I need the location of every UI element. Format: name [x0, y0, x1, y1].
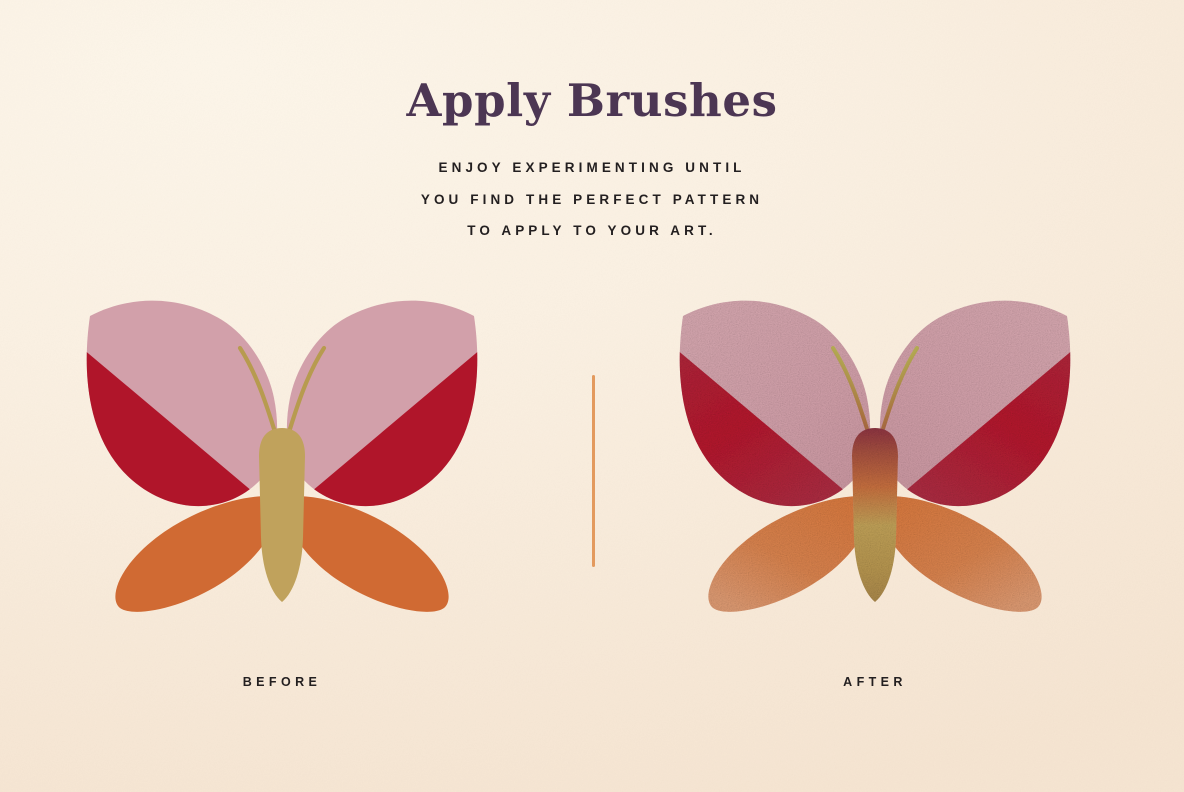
before-caption: BEFORE: [72, 675, 492, 689]
butterfly-body: [259, 428, 305, 602]
after-artwork-panel: [665, 300, 1085, 630]
lower-wing-right: [286, 496, 449, 612]
poster-canvas: Apply Brushes ENJOY EXPERIMENTING UNTIL …: [0, 0, 1184, 792]
subtitle-line-2: YOU FIND THE PERFECT PATTERN: [0, 184, 1184, 216]
lower-wing-right: [879, 496, 1042, 612]
butterfly-body: [852, 428, 898, 602]
lower-wing-left: [708, 496, 871, 612]
comparison-divider: [592, 375, 595, 567]
subtitle-line-3: TO APPLY TO YOUR ART.: [0, 215, 1184, 247]
before-after-comparison: BEFORE AFTER: [0, 300, 1184, 630]
butterfly-textured-illustration: [665, 300, 1085, 630]
butterfly-flat-illustration: [72, 300, 492, 630]
page-subtitle: ENJOY EXPERIMENTING UNTIL YOU FIND THE P…: [0, 152, 1184, 247]
after-caption: AFTER: [665, 675, 1085, 689]
subtitle-line-1: ENJOY EXPERIMENTING UNTIL: [0, 152, 1184, 184]
header-block: Apply Brushes ENJOY EXPERIMENTING UNTIL …: [0, 78, 1184, 247]
lower-wing-left: [115, 496, 278, 612]
before-artwork-panel: [72, 300, 492, 630]
page-title: Apply Brushes: [0, 78, 1184, 123]
